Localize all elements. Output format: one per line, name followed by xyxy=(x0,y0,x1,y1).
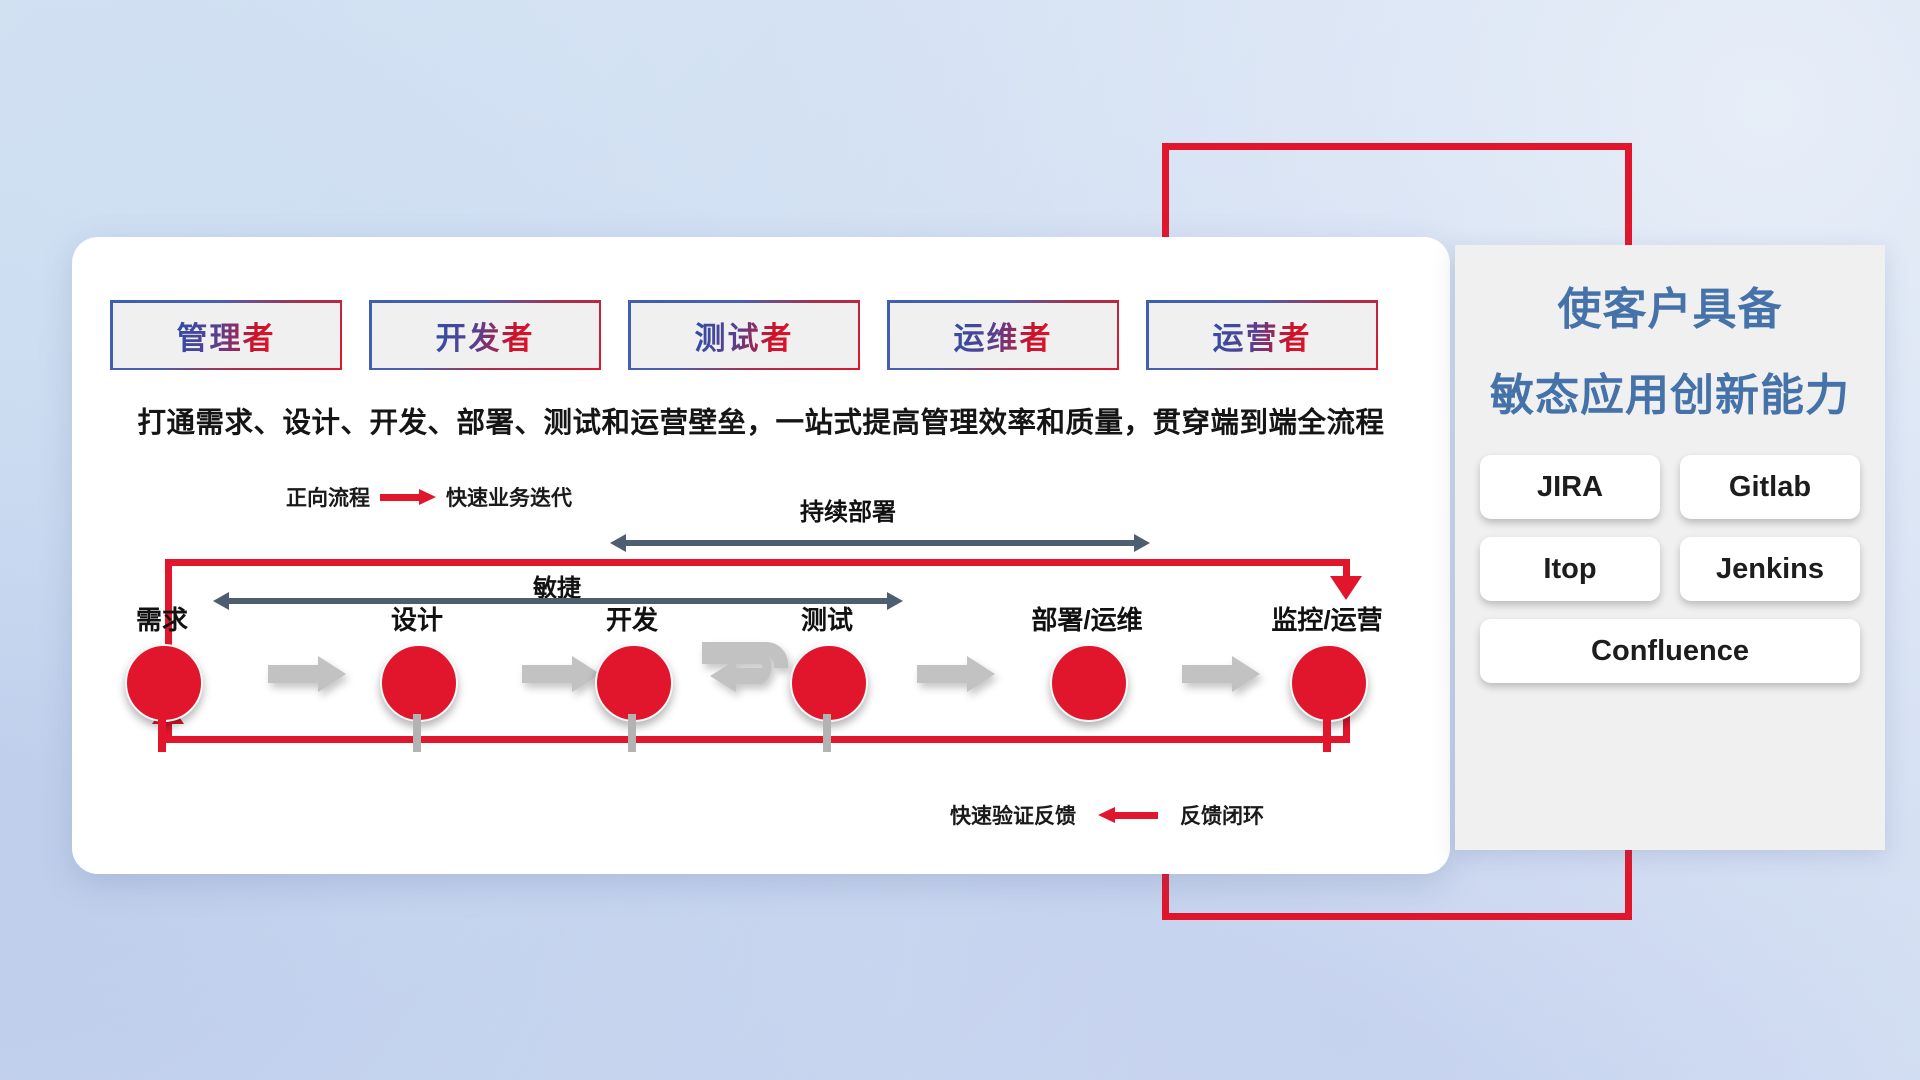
pipeline-node-stem xyxy=(413,714,421,752)
role-label: 测试者 xyxy=(695,313,794,358)
pipeline-node-dot xyxy=(595,644,673,722)
pipeline-node-dot xyxy=(1290,644,1368,722)
role-list: 管理者 开发者 测试者 运维者 运营者 xyxy=(110,300,1378,370)
arrow-right-icon-3 xyxy=(917,656,995,692)
feedback-legend: 快速验证反馈 反馈闭环 xyxy=(950,800,1264,830)
fast-iteration-label: 快速业务迭代 xyxy=(446,482,572,512)
feedback-loop-label: 反馈闭环 xyxy=(1180,800,1264,830)
tool-chip-jenkins[interactable]: Jenkins xyxy=(1680,537,1860,601)
tool-chip-itop[interactable]: Itop xyxy=(1480,537,1660,601)
role-label: 运维者 xyxy=(954,313,1053,358)
span-label-continuous-deploy: 持续部署 xyxy=(800,492,896,527)
panel-heading-line1: 使客户具备 xyxy=(1455,273,1885,337)
tool-chip-jira[interactable]: JIRA xyxy=(1480,455,1660,519)
pipeline-node-dot xyxy=(380,644,458,722)
pipeline-node-dot xyxy=(1050,644,1128,722)
pipeline-node-label: 设计 xyxy=(307,600,527,637)
pipeline-node-stem xyxy=(1323,714,1331,752)
pipeline-node-label: 部署/运维 xyxy=(977,600,1197,637)
arrow-left-icon xyxy=(1098,807,1158,823)
pipeline-node-stem xyxy=(823,714,831,752)
pipeline-node-label: 需求 xyxy=(52,600,272,637)
pipeline-node-label: 开发 xyxy=(522,600,742,637)
pipeline-node-dot xyxy=(125,644,203,722)
pipeline-node-dot xyxy=(790,644,868,722)
tool-list: JIRA Gitlab Itop Jenkins Confluence xyxy=(1455,455,1885,683)
arrow-right-icon xyxy=(380,489,436,505)
description-text: 打通需求、设计、开发、部署、测试和运营壁垒，一站式提高管理效率和质量，贯穿端到端… xyxy=(72,400,1450,441)
pipeline-node-stem xyxy=(628,714,636,752)
role-label: 开发者 xyxy=(436,313,535,358)
role-chip-ops[interactable]: 运维者 xyxy=(887,300,1119,370)
pipeline: 需求 设计 开发 测试 xyxy=(72,600,1450,780)
arrow-right-icon-4 xyxy=(1182,656,1260,692)
panel-heading-line2: 敏态应用创新能力 xyxy=(1455,359,1885,423)
feedback-loop-top xyxy=(165,559,1350,566)
forward-flow-label: 正向流程 xyxy=(286,482,370,512)
role-chip-developer[interactable]: 开发者 xyxy=(369,300,601,370)
pipeline-node-stem xyxy=(158,714,166,752)
tool-chip-confluence[interactable]: Confluence xyxy=(1480,619,1860,683)
value-panel: 使客户具备 敏态应用创新能力 JIRA Gitlab Itop Jenkins … xyxy=(1455,245,1885,850)
arrow-right-icon-2 xyxy=(522,656,600,692)
forward-flow-legend: 正向流程 快速业务迭代 xyxy=(286,482,572,512)
pipeline-node-label: 测试 xyxy=(717,600,937,637)
double-arrow-icon-continuous-deploy xyxy=(610,534,1150,552)
role-label: 运营者 xyxy=(1213,313,1312,358)
role-chip-operation[interactable]: 运营者 xyxy=(1146,300,1378,370)
role-chip-tester[interactable]: 测试者 xyxy=(628,300,860,370)
fast-verify-feedback-label: 快速验证反馈 xyxy=(950,800,1076,830)
role-chip-manager[interactable]: 管理者 xyxy=(110,300,342,370)
tool-chip-gitlab[interactable]: Gitlab xyxy=(1680,455,1860,519)
role-label: 管理者 xyxy=(177,313,276,358)
slide-canvas: 管理者 开发者 测试者 运维者 运营者 打通需求、设计、开发、部署、测试和运营壁… xyxy=(0,0,1920,1080)
arrow-right-icon-1 xyxy=(268,656,346,692)
pipeline-node-label: 监控/运营 xyxy=(1217,600,1437,637)
loop-arrowhead-down-icon xyxy=(1330,576,1362,600)
panel-heading: 使客户具备 敏态应用创新能力 xyxy=(1455,245,1885,423)
